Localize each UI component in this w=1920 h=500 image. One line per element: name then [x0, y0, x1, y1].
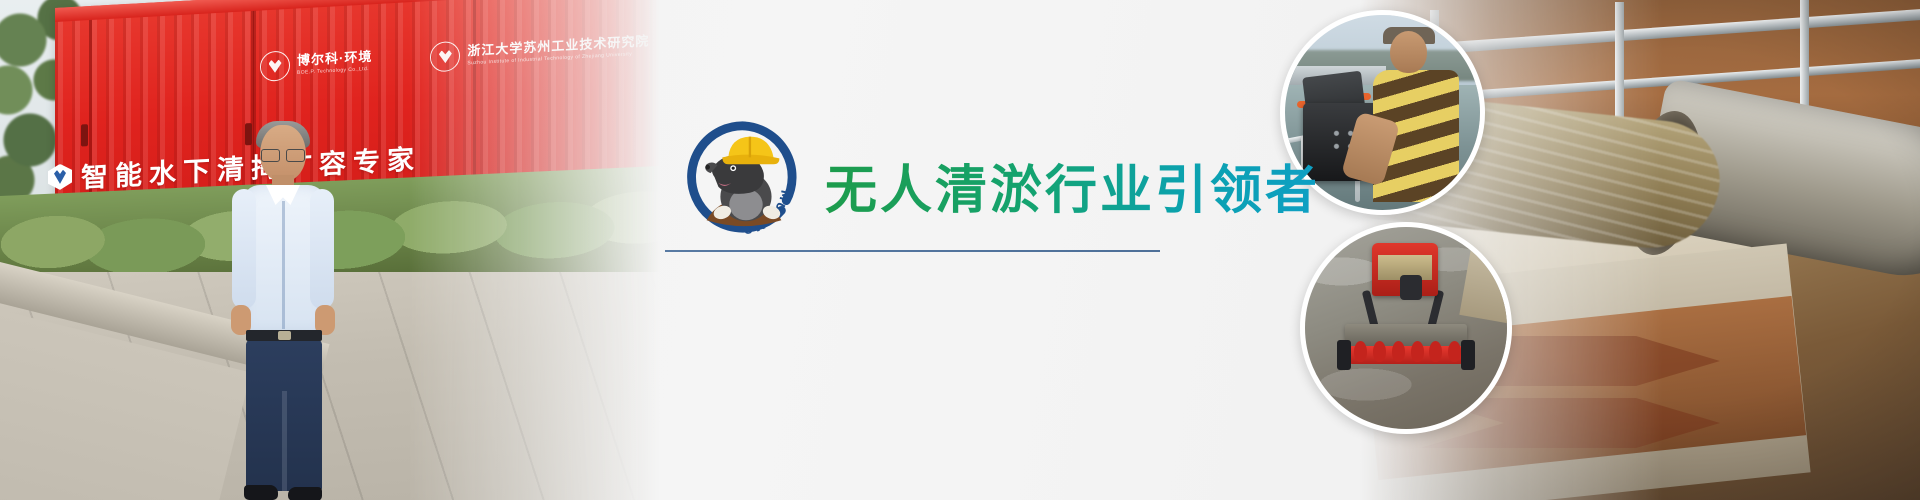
- auger-flight: [1392, 341, 1405, 362]
- auger-end-bearing-left: [1337, 340, 1351, 370]
- auger-flight: [1354, 341, 1367, 362]
- figure-left-arm: [232, 189, 256, 309]
- figure-glasses: [260, 149, 306, 160]
- zju-seal-icon: [430, 41, 460, 73]
- engineer-figure: [228, 125, 338, 500]
- slogan-mark-icon: [48, 163, 72, 190]
- headline-divider: [665, 250, 1160, 252]
- auger-flight: [1411, 341, 1424, 362]
- container-latch: [81, 124, 88, 146]
- auger-flight: [1429, 341, 1442, 362]
- figure-placket: [282, 201, 285, 329]
- figure-jeans: [246, 339, 322, 491]
- auger-end-bearing-right: [1461, 340, 1475, 370]
- promotional-banner: 博尔科·环境 BOE.P. Technology Co.,Ltd. 浙江大学苏州…: [0, 0, 1920, 500]
- operator-head: [1390, 31, 1427, 74]
- figure-belt-buckle: [278, 331, 291, 340]
- figure-right-arm: [310, 189, 334, 309]
- container-brand-bolp: 博尔科·环境 BOE.P. Technology Co.,Ltd.: [260, 46, 372, 82]
- mud-mole-logo-icon: MUD MOLE: [685, 118, 803, 236]
- auger-flight: [1448, 341, 1461, 362]
- page-headline: 无人清淤行业引领者: [825, 148, 1320, 223]
- container-brand-cn: 博尔科·环境: [297, 50, 372, 69]
- inset-photo-dredging-robot: [1300, 222, 1512, 434]
- left-photo-engineer-container: 博尔科·环境 BOE.P. Technology Co.,Ltd. 浙江大学苏州…: [0, 0, 660, 500]
- figure-left-shoe: [244, 485, 278, 500]
- figure-right-shoe: [288, 487, 322, 500]
- center-content: MUD MOLE 无人清淤行业引领者: [660, 0, 1280, 500]
- bolp-seal-icon: [260, 50, 290, 82]
- robot-screw-auger: [1347, 346, 1464, 364]
- robot-motor: [1400, 275, 1422, 299]
- auger-flight: [1373, 341, 1386, 362]
